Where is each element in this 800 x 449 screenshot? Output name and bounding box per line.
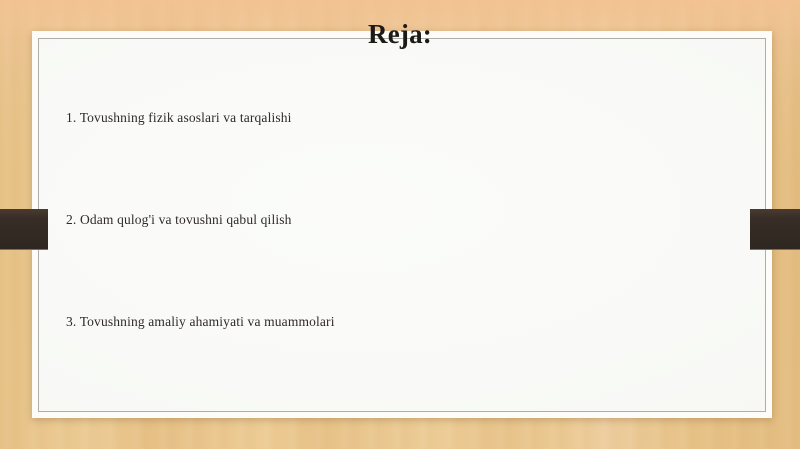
agenda-list: 1. Tovushning fizik asoslari va tarqalis… (66, 110, 686, 416)
decorative-ribbon-right (750, 209, 800, 250)
decorative-ribbon-left (0, 209, 48, 250)
list-item: 1. Tovushning fizik asoslari va tarqalis… (66, 110, 686, 212)
list-item: 3. Tovushning amaliy ahamiyati va muammo… (66, 314, 686, 416)
slide-canvas: Reja: 1. Tovushning fizik asoslari va ta… (0, 0, 800, 449)
slide-title: Reja: (0, 20, 800, 48)
list-item: 2. Odam qulog'i va tovushni qabul qilish (66, 212, 686, 314)
